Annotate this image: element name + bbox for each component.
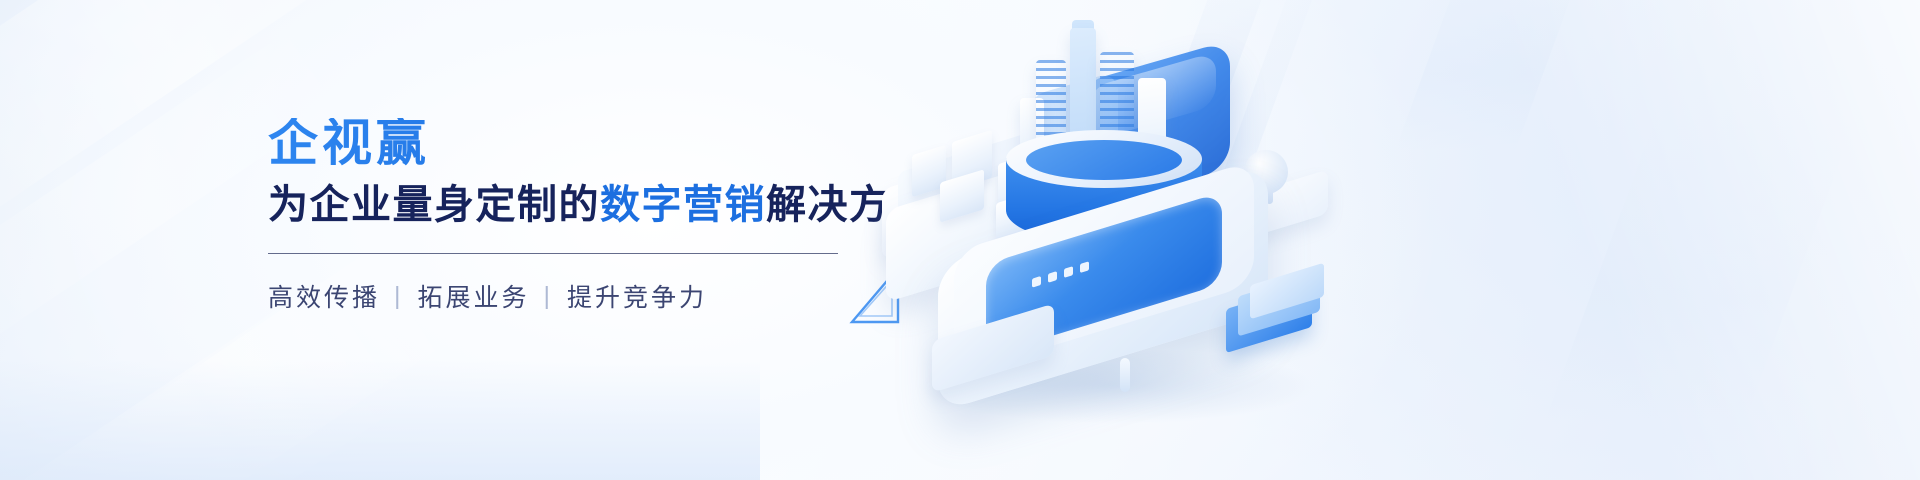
headline-highlight: 数字营销: [600, 183, 766, 227]
hero-banner: 企视赢 为企业量身定制的数字营销解决方案 高效传播 | 拓展业务 | 提升竞争力: [0, 0, 1920, 480]
tagline-item-1: 高效传播: [268, 278, 380, 314]
headline-lead: 为企业量身定制的: [268, 183, 600, 227]
cylinder-dais-inner: [1026, 140, 1182, 180]
lower-veil: [0, 360, 760, 480]
divider-line: [268, 253, 838, 254]
brand-title: 企视赢: [268, 118, 908, 168]
tagline: 高效传播 | 拓展业务 | 提升竞争力: [268, 278, 908, 314]
platform-leg: [1120, 358, 1130, 392]
tagline-item-3: 提升竞争力: [567, 278, 707, 314]
tagline-separator: |: [544, 282, 554, 311]
hero-copy: 企视赢 为企业量身定制的数字营销解决方案 高效传播 | 拓展业务 | 提升竞争力: [268, 118, 908, 314]
tagline-item-2: 拓展业务: [418, 278, 530, 314]
hero-illustration: [820, 0, 1920, 480]
tagline-separator: |: [394, 282, 404, 311]
headline: 为企业量身定制的数字营销解决方案: [268, 184, 908, 227]
